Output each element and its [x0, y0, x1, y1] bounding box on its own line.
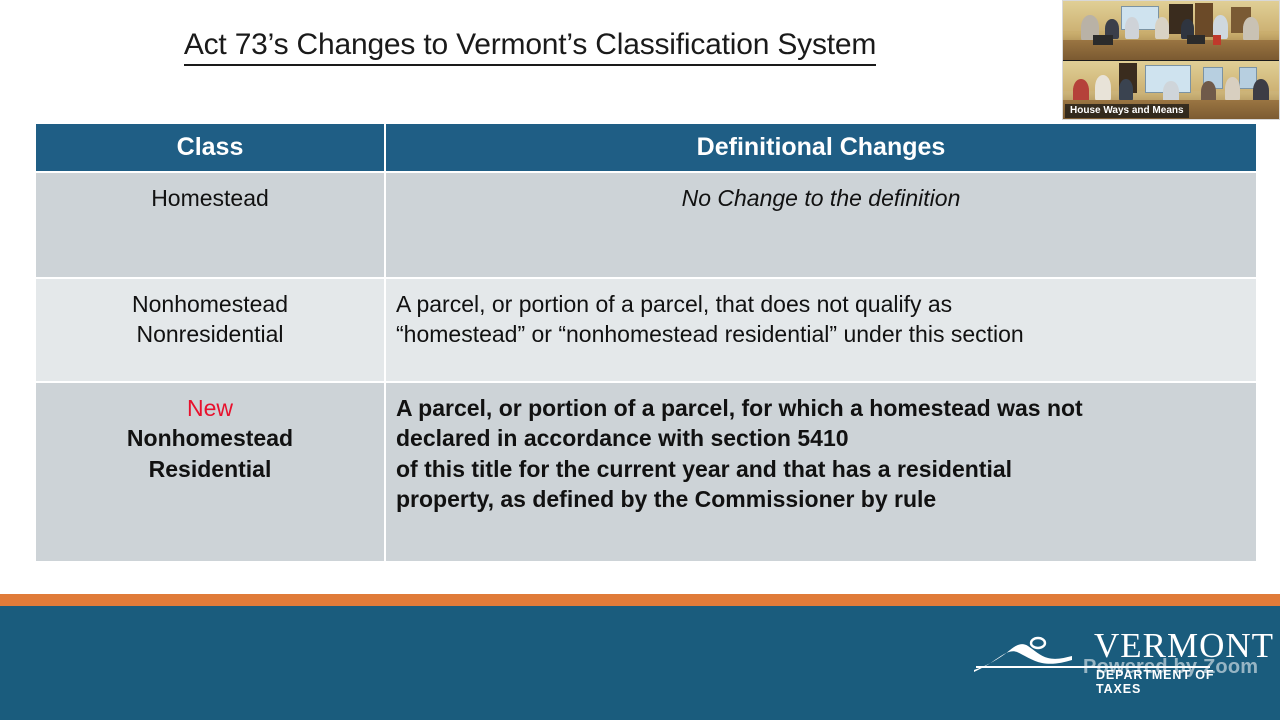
column-header-class: Class	[36, 124, 385, 172]
cell-definition-homestead: No Change to the definition	[385, 172, 1256, 278]
cell-definition-nonhomestead-nonresidential: A parcel, or portion of a parcel, that d…	[385, 278, 1256, 382]
laptop	[1187, 35, 1205, 44]
class-label: Homestead	[151, 185, 269, 211]
video-caption: House Ways and Means	[1065, 104, 1189, 118]
person	[1119, 79, 1133, 101]
person	[1243, 17, 1259, 41]
page-title-text: Act 73’s Changes to Vermont’s Classifica…	[184, 28, 876, 66]
cell-definition-nonhomestead-residential: A parcel, or portion of a parcel, for wh…	[385, 382, 1256, 562]
cell-class-homestead: Homestead	[36, 172, 385, 278]
mountain-icon	[972, 636, 1092, 676]
footer-accent-bar	[0, 594, 1280, 606]
classification-table: Class Definitional Changes Homestead No …	[36, 124, 1256, 563]
new-badge: New	[46, 393, 374, 423]
door	[1195, 3, 1213, 37]
class-label-line-1: Nonhomestead	[46, 289, 374, 319]
definition-line: of this title for the current year and t…	[396, 454, 1246, 484]
table-row: Homestead No Change to the definition	[36, 172, 1256, 278]
definition-line: A parcel, or portion of a parcel, that d…	[396, 289, 1246, 319]
zoom-watermark: Powered by Zoom	[1083, 656, 1258, 679]
person	[1155, 17, 1169, 39]
video-pane-bottom: House Ways and Means	[1063, 61, 1280, 120]
cell-class-nonhomestead-nonresidential: Nonhomestead Nonresidential	[36, 278, 385, 382]
table-row: Nonhomestead Nonresidential A parcel, or…	[36, 278, 1256, 382]
person	[1225, 77, 1240, 101]
video-thumbnail[interactable]: House Ways and Means	[1062, 0, 1280, 120]
laptop	[1093, 35, 1113, 45]
class-label-line-1: Nonhomestead	[46, 423, 374, 453]
definition-line: A parcel, or portion of a parcel, for wh…	[396, 393, 1246, 423]
cell-class-nonhomestead-residential: New Nonhomestead Residential	[36, 382, 385, 562]
table-header-row: Class Definitional Changes	[36, 124, 1256, 172]
video-pane-top	[1063, 1, 1280, 60]
definition-line: declared in accordance with section 5410	[396, 423, 1246, 453]
definition-line: No Change to the definition	[682, 185, 961, 211]
page-title: Act 73’s Changes to Vermont’s Classifica…	[0, 28, 1060, 62]
class-label-line-2: Nonresidential	[46, 319, 374, 349]
definition-line: property, as defined by the Commissioner…	[396, 484, 1246, 514]
column-header-definitional-changes: Definitional Changes	[385, 124, 1256, 172]
class-label-line-2: Residential	[46, 454, 374, 484]
table-row: New Nonhomestead Residential A parcel, o…	[36, 382, 1256, 562]
person	[1125, 17, 1139, 39]
cup	[1213, 35, 1221, 45]
person	[1095, 75, 1111, 101]
classification-table-container: Class Definitional Changes Homestead No …	[36, 124, 1256, 563]
definition-line: “homestead” or “nonhomestead residential…	[396, 319, 1246, 349]
